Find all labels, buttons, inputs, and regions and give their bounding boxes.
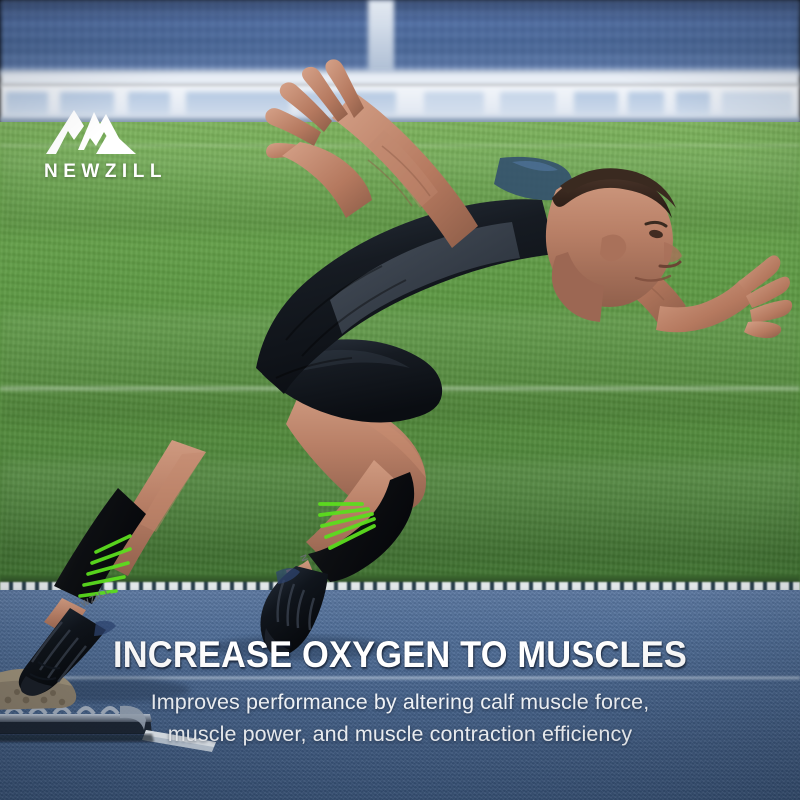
subheadline-line-2: muscle power, and muscle contraction eff… — [0, 719, 800, 750]
caption-block: INCREASE OXYGEN TO MUSCLES Improves perf… — [0, 636, 800, 750]
back-arm — [265, 59, 478, 248]
ad-canvas: NEWZILL — [0, 0, 800, 800]
headline: INCREASE OXYGEN TO MUSCLES — [28, 636, 772, 674]
subheadline: Improves performance by altering calf mu… — [0, 687, 800, 749]
back-hand — [265, 59, 372, 218]
mountain-n-logo-icon — [44, 104, 148, 156]
brand-wordmark: NEWZILL — [44, 161, 214, 183]
lead-leg: NEWZILL — [260, 392, 426, 656]
subheadline-line-1: Improves performance by altering calf mu… — [0, 687, 800, 718]
brand-logo[interactable]: NEWZILL — [44, 104, 214, 183]
